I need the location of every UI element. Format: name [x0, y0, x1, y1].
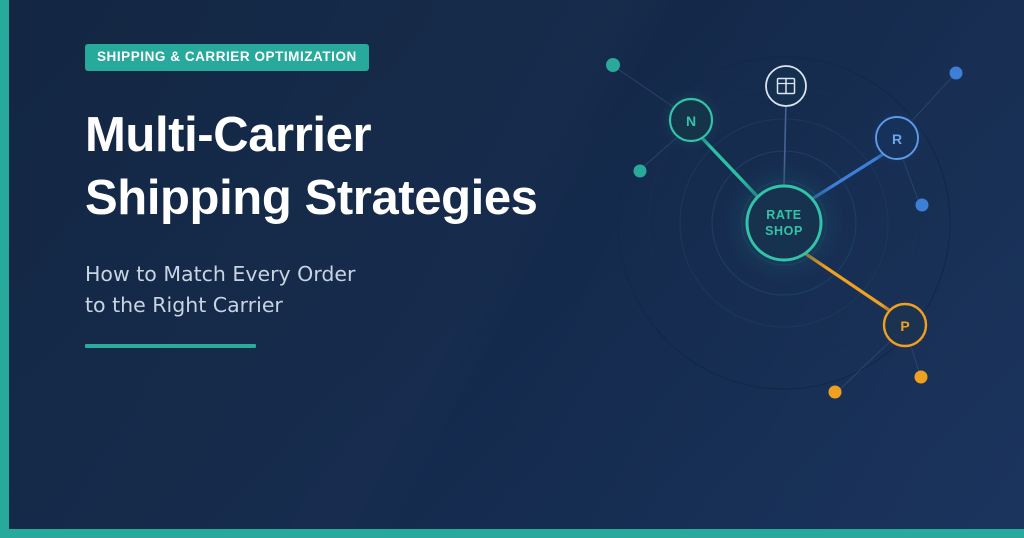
dot-orange-2: [829, 386, 842, 399]
node-carrier-p-label: P: [900, 318, 909, 334]
dot-orange-1: [915, 371, 928, 384]
network-diagram: RATE SHOP N R: [560, 0, 1024, 538]
node-carrier-n[interactable]: N: [658, 87, 724, 153]
accent-border-bottom: [0, 529, 1024, 538]
page-title: Multi-Carrier Shipping Strategies: [85, 104, 555, 231]
dot-blue-1: [950, 67, 963, 80]
hub-rate-shop[interactable]: RATE SHOP: [722, 161, 846, 285]
accent-border-left: [0, 0, 9, 538]
hub-label-line1: RATE: [766, 208, 802, 222]
hub-label-line2: SHOP: [765, 224, 803, 238]
hero-slide: SHIPPING & CARRIER OPTIMIZATION Multi-Ca…: [0, 0, 1024, 538]
dot-teal-1: [606, 58, 620, 72]
node-carrier-r-label: R: [892, 131, 902, 147]
node-carrier-r[interactable]: R: [866, 107, 928, 169]
hero-text-block: SHIPPING & CARRIER OPTIMIZATION Multi-Ca…: [85, 44, 555, 348]
node-carrier-n-label: N: [686, 113, 696, 129]
title-underline-rule: [85, 344, 256, 348]
node-carrier-p[interactable]: P: [874, 294, 936, 356]
node-package[interactable]: [766, 66, 806, 106]
page-subtitle: How to Match Every Order to the Right Ca…: [85, 259, 555, 321]
dot-blue-2: [916, 199, 929, 212]
dot-teal-2: [634, 165, 647, 178]
category-badge: SHIPPING & CARRIER OPTIMIZATION: [85, 44, 369, 71]
